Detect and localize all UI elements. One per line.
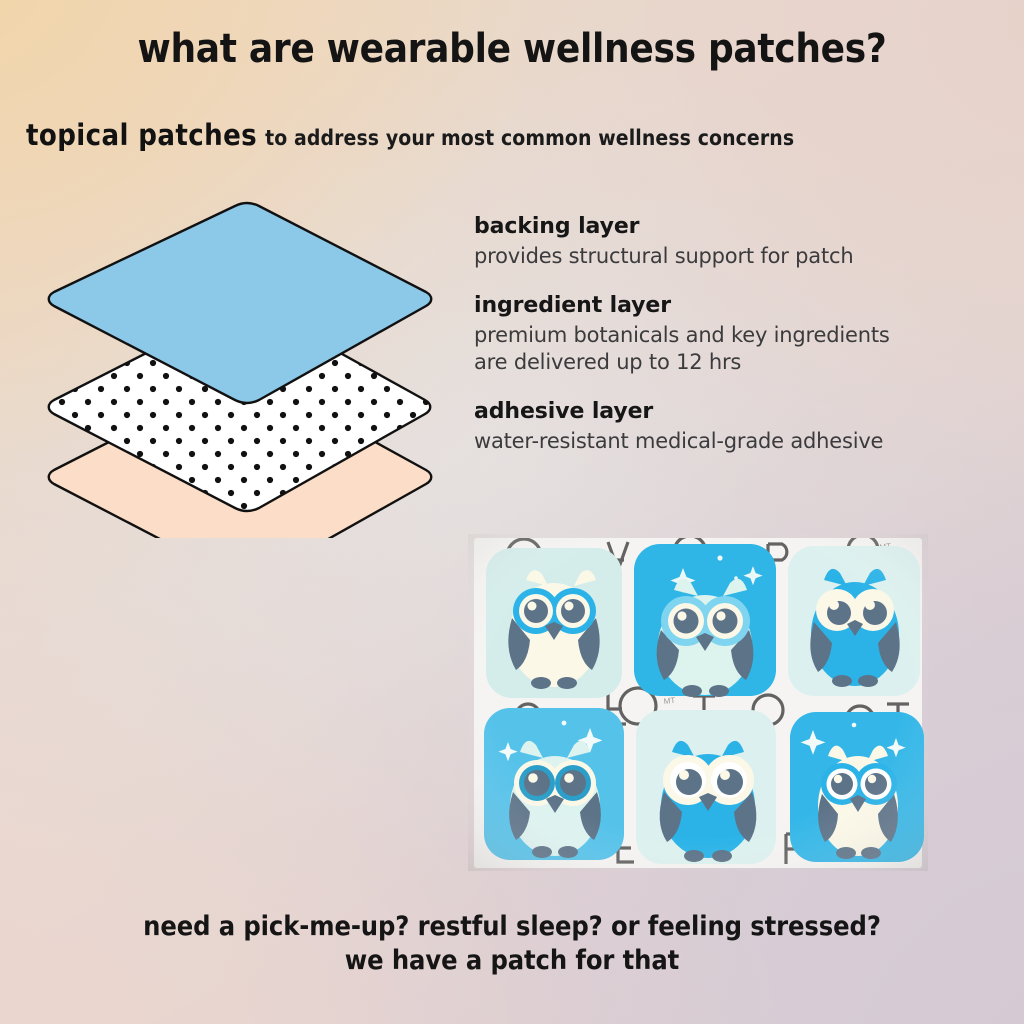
layer-info-backing: backing layer provides structural suppor…	[474, 214, 1014, 271]
layer-body-ingredient-line1: premium botanicals and key ingredients	[474, 322, 1014, 350]
page-title: what are wearable wellness patches?	[0, 26, 1024, 72]
layer-heading-backing: backing layer	[474, 214, 1014, 239]
footer-tagline: need a pick-me-up? restful sleep? or fee…	[0, 910, 1024, 978]
layer-description-list: backing layer provides structural suppor…	[474, 214, 1014, 456]
layer-heading-ingredient: ingredient layer	[474, 293, 1014, 318]
infographic-canvas: what are wearable wellness patches? topi…	[0, 0, 1024, 1024]
subtitle-rest: to address your most common wellness con…	[265, 126, 794, 150]
subtitle-strong: topical patches	[26, 118, 257, 152]
layer-heading-adhesive: adhesive layer	[474, 399, 1014, 424]
owl-patch-sheet-photo: MT MT MT MT	[468, 534, 928, 871]
layer-body-ingredient-line2: are delivered up to 12 hrs	[474, 349, 1014, 377]
layer-body-adhesive: water-resistant medical-grade adhesive	[474, 428, 1014, 456]
layer-info-adhesive: adhesive layer water-resistant medical-g…	[474, 399, 1014, 456]
layer-body-backing: provides structural support for patch	[474, 243, 1014, 271]
layer-info-ingredient: ingredient layer premium botanicals and …	[474, 293, 1014, 377]
patch-layer-diagram	[30, 188, 450, 538]
footer-line-2: we have a patch for that	[0, 944, 1024, 978]
footer-line-1: need a pick-me-up? restful sleep? or fee…	[0, 910, 1024, 944]
subtitle-row: topical patches to address your most com…	[26, 118, 1002, 152]
